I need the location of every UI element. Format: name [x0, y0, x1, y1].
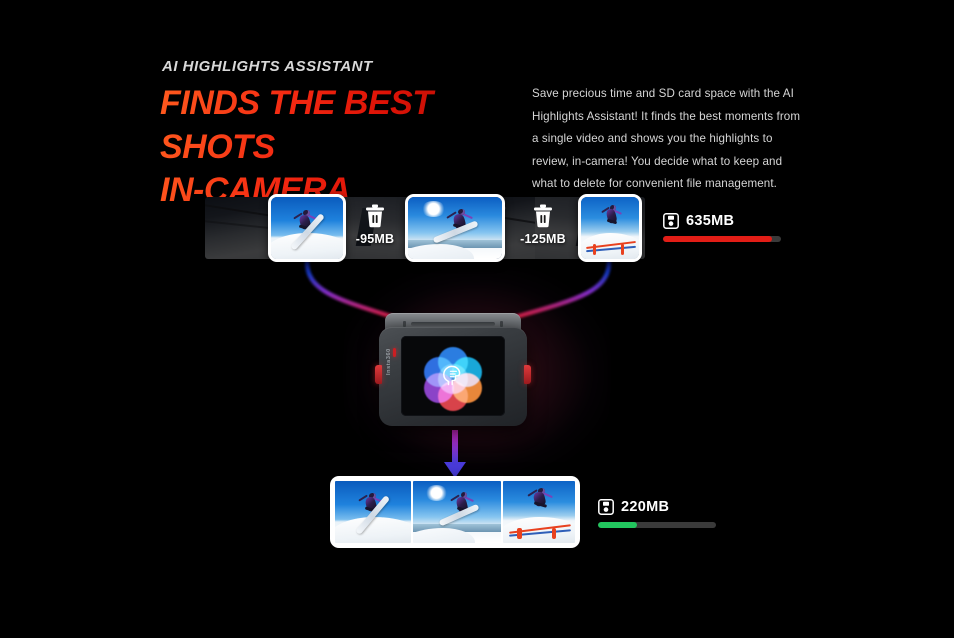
kept-thumbnail[interactable]: [578, 194, 642, 262]
camera-shutter-button-left[interactable]: [375, 365, 382, 384]
sd-card-icon: [663, 213, 679, 229]
action-camera[interactable]: Insta360: [379, 313, 527, 426]
sd-card-icon: [598, 499, 614, 515]
storage-meter-before: 635MB: [663, 213, 781, 242]
deleted-size-label: -125MB: [508, 232, 578, 246]
ai-highlights-flower-icon: [424, 347, 482, 405]
ai-head-icon: [438, 361, 468, 391]
camera-shutter-button-right[interactable]: [524, 365, 531, 384]
trash-icon: [532, 204, 554, 228]
storage-track-before: [663, 236, 781, 242]
camera-brand-text: Insta360: [386, 348, 392, 375]
deleted-clip-marker: -95MB: [340, 204, 410, 246]
result-thumbnail[interactable]: [503, 481, 575, 543]
deleted-size-label: -95MB: [340, 232, 410, 246]
deleted-clip-marker: -125MB: [508, 204, 578, 246]
highlight-reel-output[interactable]: [330, 476, 580, 548]
camera-screen[interactable]: [401, 336, 505, 416]
promo-stage: AI HIGHLIGHTS ASSISTANT FINDS THE BEST S…: [0, 0, 954, 638]
trash-icon: [364, 204, 386, 228]
storage-label-after: 220MB: [621, 499, 669, 515]
body-paragraph: Save precious time and SD card space wit…: [532, 83, 804, 196]
status-led: [393, 348, 396, 357]
storage-label-before: 635MB: [686, 213, 734, 229]
kept-thumbnail[interactable]: [268, 194, 346, 262]
result-thumbnail[interactable]: [335, 481, 411, 543]
camera-body: Insta360: [379, 327, 527, 426]
eyebrow-label: AI HIGHLIGHTS ASSISTANT: [162, 58, 373, 75]
storage-fill-after: [598, 522, 637, 528]
storage-meter-after: 220MB: [598, 499, 716, 528]
storage-fill-before: [663, 236, 772, 242]
page-title: FINDS THE BEST SHOTS IN-CAMERA: [160, 82, 520, 213]
result-thumbnail[interactable]: [413, 481, 501, 543]
storage-track-after: [598, 522, 716, 528]
kept-thumbnail[interactable]: [405, 194, 505, 262]
